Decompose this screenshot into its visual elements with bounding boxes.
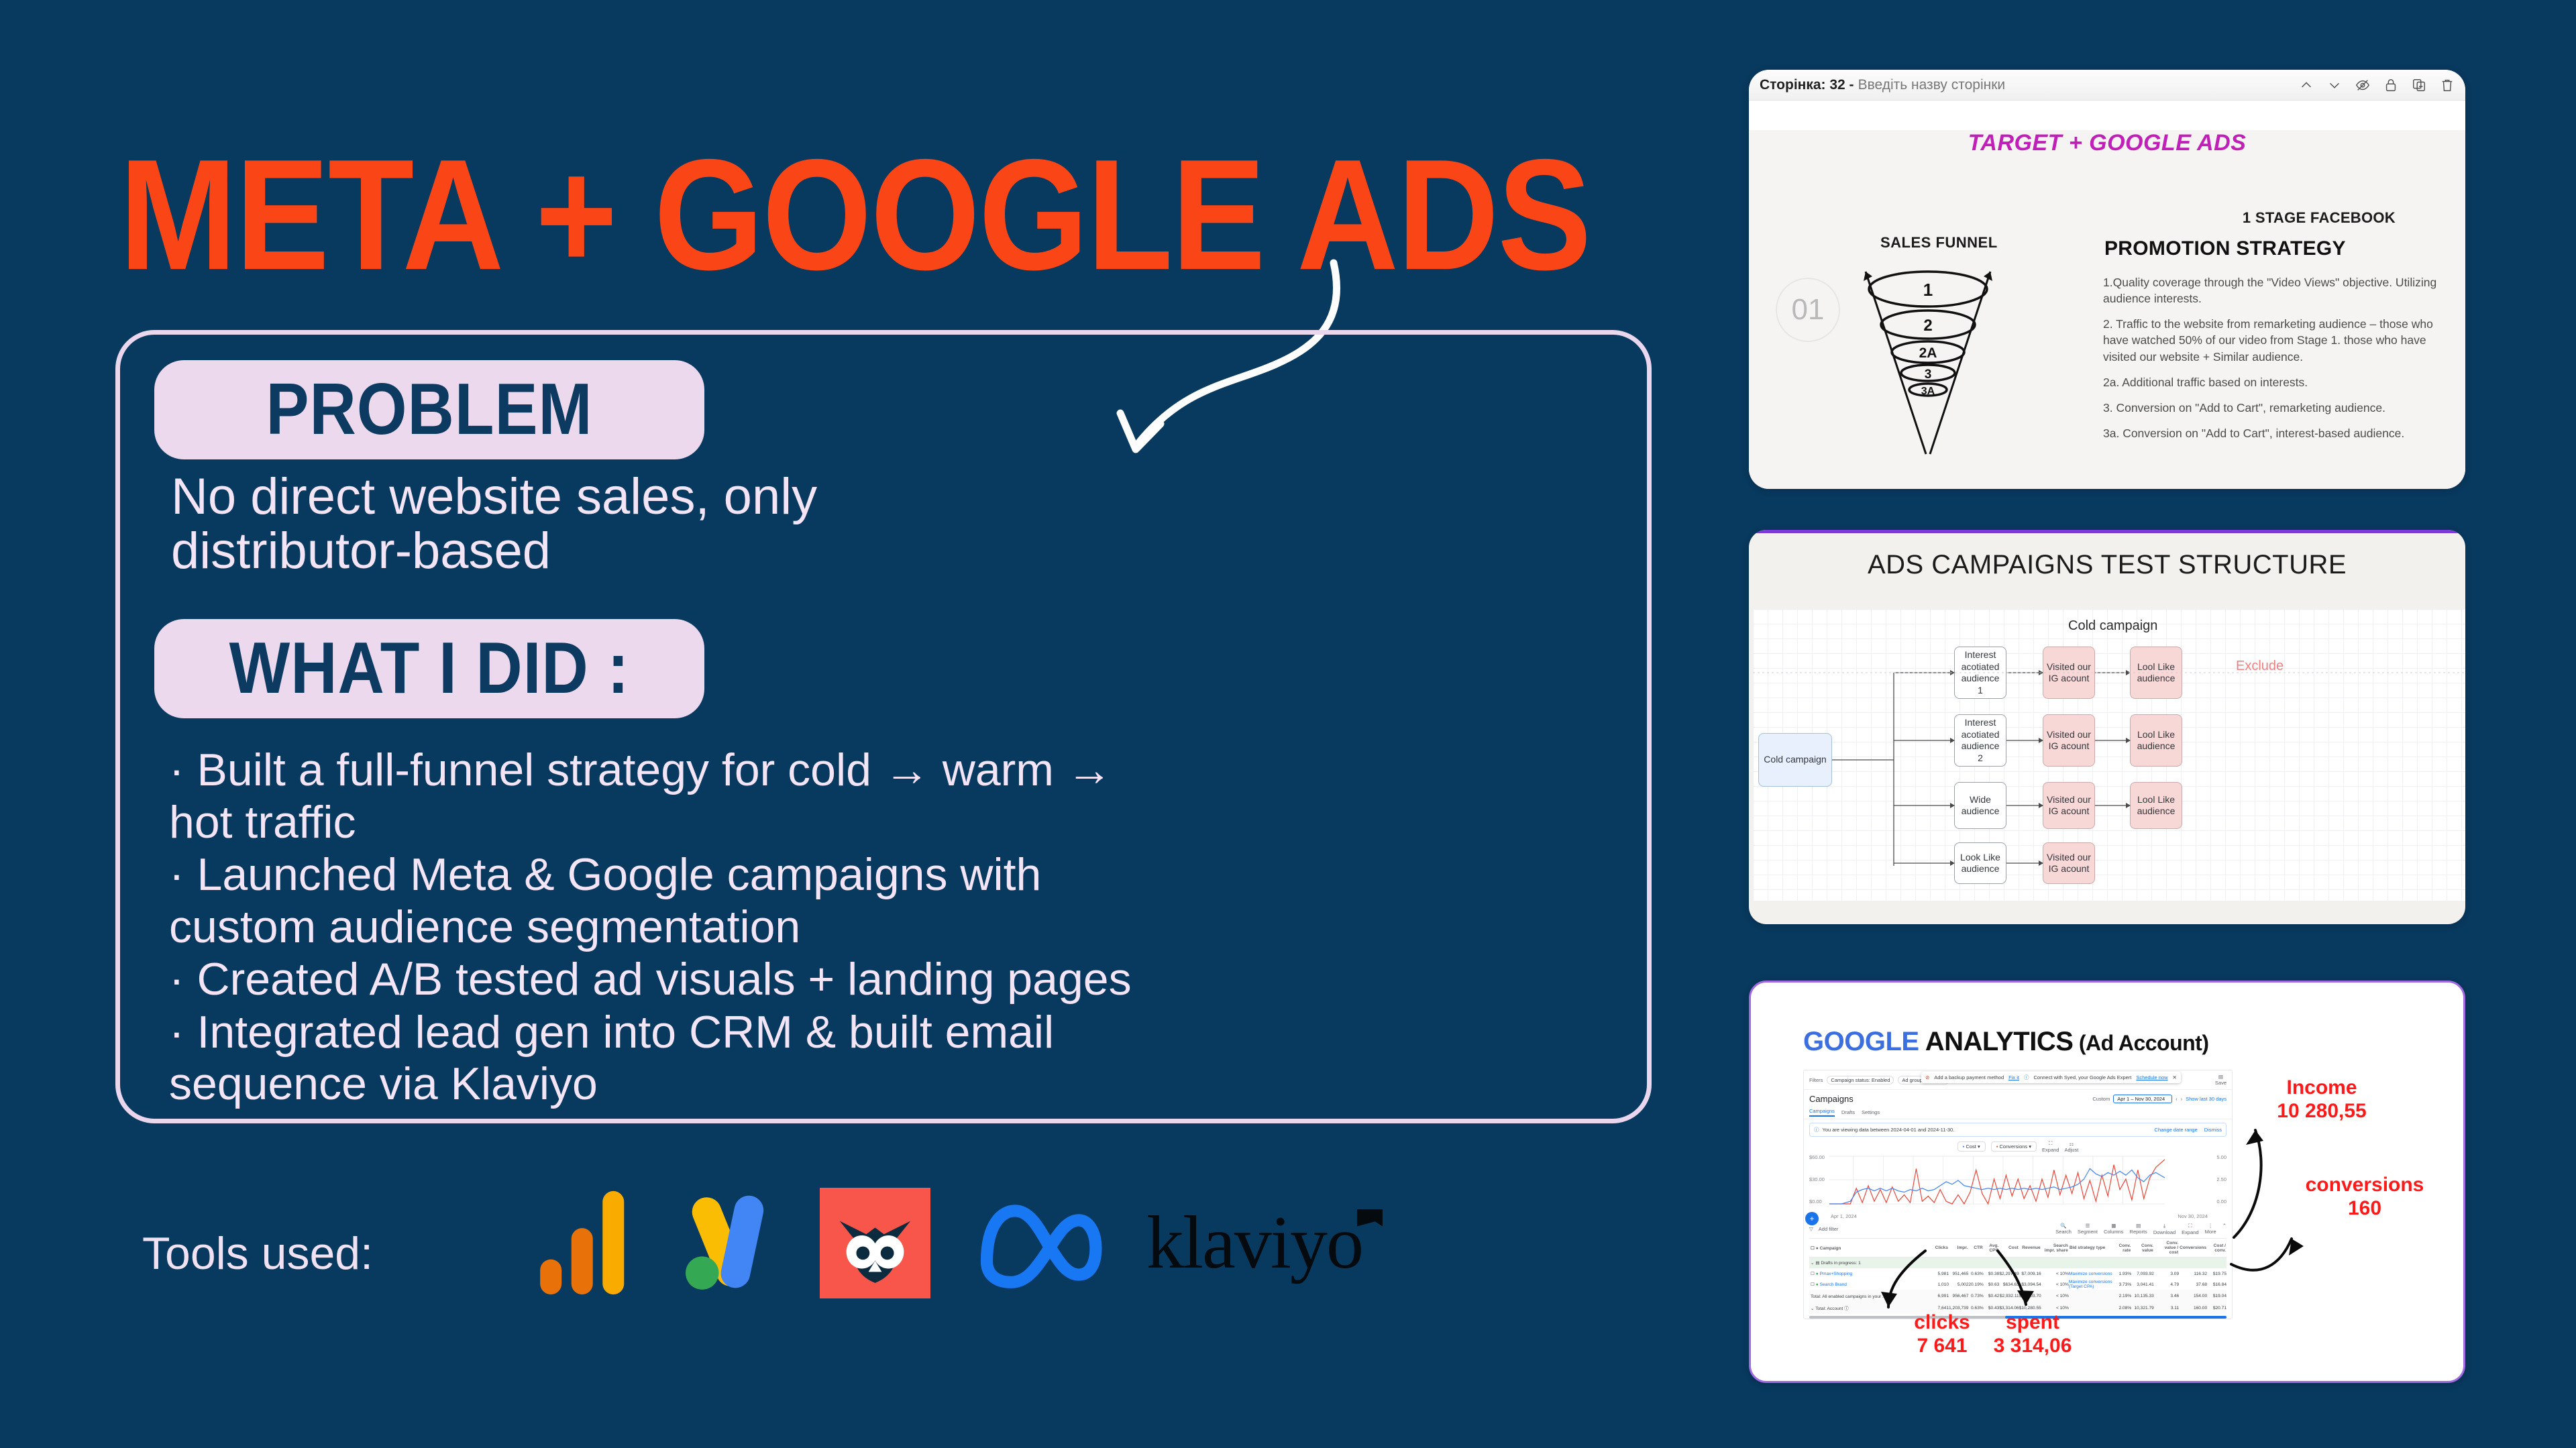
- strategy-item: 2a. Additional traffic based on interest…: [2103, 374, 2438, 390]
- card2-title: ADS CAMPAIGNS TEST STRUCTURE: [1749, 550, 2465, 580]
- info-icon: ⓘ: [1814, 1126, 1819, 1133]
- add-fab-button[interactable]: +: [1805, 1212, 1819, 1225]
- card3-title: GOOGLE ANALYTICS (Ad Account): [1803, 1027, 2208, 1057]
- filters-label: Filters: [1809, 1077, 1823, 1083]
- eye-off-icon[interactable]: [2355, 78, 2370, 93]
- close-icon[interactable]: ✕: [2173, 1074, 2177, 1080]
- svg-text:3A: 3A: [1921, 386, 1935, 397]
- reports-icon[interactable]: ▤Reports: [2130, 1223, 2147, 1235]
- promotion-strategy-title: PROMOTION STRATEGY: [2104, 237, 2346, 260]
- y-axis-label-right: 2.50: [2216, 1176, 2226, 1182]
- google-analytics-logo: [537, 1189, 637, 1296]
- y-axis-label: $30.00: [1809, 1176, 1825, 1182]
- slide-card-ads-test-structure[interactable]: ADS CAMPAIGNS TEST STRUCTURE Cold campai…: [1749, 530, 2465, 924]
- card1-page-number: Сторінка: 32 -: [1760, 77, 1854, 93]
- svg-text:1: 1: [1923, 280, 1933, 300]
- tools-used-label: Tools used:: [142, 1227, 373, 1280]
- search-icon[interactable]: 🔍Search: [2055, 1223, 2072, 1235]
- table-row[interactable]: ☐ ● Search Brand 1,010 5,002 20.19% $0.6…: [1809, 1279, 2226, 1290]
- flowchart-canvas: Cold campaign Exclude Cold campaign Inte…: [1753, 609, 2465, 901]
- problem-chip-label: PROBLEM: [266, 368, 593, 451]
- card3-title-google: GOOGLE: [1803, 1027, 1919, 1056]
- table-header-row: ☐ ● Campaign Clicks Impr. CTR Avg. CPC C…: [1809, 1239, 2226, 1258]
- problem-chip: PROBLEM: [154, 360, 704, 459]
- campaigns-table: ☐ ● Campaign Clicks Impr. CTR Avg. CPC C…: [1809, 1238, 2226, 1314]
- show-last-30-days-link[interactable]: Show last 30 days: [2186, 1096, 2226, 1102]
- x-axis-start-label: Apr 1, 2024: [1831, 1213, 1857, 1219]
- table-row[interactable]: ☐ ● Pmax+Shopping 5,981 951,465 0.63% $0…: [1809, 1268, 2226, 1279]
- info-icon: ⓘ: [2024, 1074, 2029, 1081]
- notice-expert: Connect with Syed, your Google Ads Exper…: [2033, 1074, 2131, 1080]
- svg-text:3: 3: [1925, 368, 1932, 382]
- left-column: META + GOOGLE ADS PROBLEM No direct webs…: [0, 0, 1717, 1448]
- bullet-list: · Built a full-funnel strategy for cold …: [169, 744, 1169, 1111]
- filter-chip[interactable]: Campaign status: Enabled: [1827, 1076, 1894, 1084]
- expand-chart-button[interactable]: ⛶Expand: [2042, 1140, 2059, 1153]
- tools-logo-row: klaviyo: [537, 1186, 1362, 1300]
- list-item: · Built a full-funnel strategy for cold …: [169, 744, 1169, 848]
- whatidid-chip: WHAT I DID :: [154, 619, 704, 718]
- date-range-select[interactable]: Apr 1 – Nov 30, 2024: [2113, 1095, 2172, 1103]
- tab-drafts[interactable]: Drafts: [1841, 1109, 1855, 1115]
- google-ads-logo: [675, 1189, 782, 1296]
- dismiss-link[interactable]: Dismiss: [2204, 1127, 2222, 1133]
- y-axis-label: $60.00: [1809, 1154, 1825, 1160]
- lock-icon[interactable]: [2383, 78, 2398, 93]
- card3-title-suffix: (Ad Account): [2073, 1031, 2208, 1055]
- hootsuite-logo: [820, 1188, 930, 1298]
- ga-page-title: Campaigns: [1809, 1094, 1854, 1104]
- expand-row-icon[interactable]: ⌄: [1811, 1306, 1815, 1311]
- duplicate-icon[interactable]: [2412, 78, 2426, 93]
- x-axis-end-label: Nov 30, 2024: [2178, 1213, 2208, 1219]
- annotation-conversions: conversions 160: [2288, 1174, 2442, 1220]
- page-title: META + GOOGLE ADS: [119, 124, 1591, 306]
- meta-logo: [968, 1196, 1109, 1290]
- help-icon[interactable]: ⓘ: [1844, 1306, 1849, 1311]
- performance-chart: [1829, 1156, 2165, 1205]
- next-period-icon[interactable]: ›: [2181, 1096, 2183, 1102]
- help-icon[interactable]: ⓘ: [1887, 1294, 1892, 1299]
- google-ads-screenshot[interactable]: Filters Campaign status: Enabled Ad grou…: [1803, 1070, 2233, 1319]
- date-custom-label: Custom: [2092, 1096, 2110, 1102]
- tab-settings[interactable]: Settings: [1862, 1109, 1880, 1115]
- notice-payment: Add a backup payment method: [1934, 1074, 2004, 1080]
- filter-icon[interactable]: ▽: [1809, 1226, 1813, 1232]
- stage-label: 1 STAGE FACEBOOK: [2243, 209, 2396, 227]
- ga-info-banner: You are viewing data between 2024-04-01 …: [1823, 1127, 1955, 1133]
- strategy-item: 3. Conversion on "Add to Cart", remarket…: [2103, 400, 2438, 416]
- y-axis-label: $0.00: [1809, 1199, 1822, 1205]
- svg-text:2: 2: [1923, 317, 1932, 335]
- legend-cost[interactable]: ▪ Cost ▾: [1957, 1141, 1986, 1152]
- klaviyo-flag-icon: [1357, 1209, 1383, 1227]
- tab-campaigns[interactable]: Campaigns: [1809, 1108, 1835, 1117]
- legend-conversions[interactable]: ▪ Conversions ▾: [1991, 1141, 2037, 1152]
- step-badge: 01: [1776, 278, 1840, 342]
- table-row[interactable]: Total: All enabled campaigns in your ...…: [1809, 1290, 2226, 1302]
- chevron-down-icon[interactable]: [2327, 78, 2342, 93]
- problem-text: No direct website sales, only distributo…: [171, 469, 1010, 579]
- select-all-checkbox[interactable]: ☐: [1811, 1246, 1815, 1251]
- segment-icon[interactable]: ☰Segment: [2078, 1223, 2098, 1235]
- expand-icon[interactable]: ⛶Expand: [2182, 1223, 2198, 1235]
- change-date-range-link[interactable]: Change date range: [2155, 1127, 2198, 1133]
- flowchart-connectors: [1753, 609, 2465, 901]
- klaviyo-logo: klaviyo: [1146, 1200, 1362, 1286]
- fix-it-link[interactable]: Fix it: [2008, 1074, 2019, 1080]
- svg-text:2A: 2A: [1919, 345, 1937, 361]
- whatidid-chip-label: WHAT I DID :: [229, 627, 630, 710]
- table-row[interactable]: ⌄ ▤ Drafts in progress: 1: [1809, 1258, 2226, 1269]
- card3-title-analytics: ANALYTICS: [1919, 1027, 2074, 1056]
- list-item: · Integrated lead gen into CRM & built e…: [169, 1007, 1169, 1111]
- strategy-item: 1.Quality coverage through the "Video Vi…: [2103, 274, 2438, 307]
- annotation-income: Income 10 280,55: [2251, 1076, 2392, 1123]
- strategy-item: 2. Traffic to the website from remarketi…: [2103, 316, 2438, 364]
- prev-period-icon[interactable]: ‹: [2176, 1096, 2178, 1102]
- sales-funnel-label: SALES FUNNEL: [1880, 234, 1998, 252]
- card1-body: TARGET + GOOGLE ADS SALES FUNNEL 1 STAGE…: [1749, 130, 2465, 489]
- add-filter-button[interactable]: Add filter: [1819, 1226, 1839, 1232]
- schedule-now-link[interactable]: Schedule now: [2136, 1074, 2167, 1080]
- sales-funnel-diagram: 1 2 2A 3 3A: [1851, 261, 2005, 462]
- card1-titlebar: Сторінка: 32 - Введіть назву сторінки: [1749, 70, 2465, 101]
- columns-icon[interactable]: ▦Columns: [2104, 1223, 2124, 1235]
- list-item: · Launched Meta & Google campaigns with …: [169, 849, 1169, 953]
- save-label: Save: [2215, 1080, 2226, 1086]
- download-icon[interactable]: ⤓Download: [2153, 1223, 2176, 1235]
- list-item: · Created A/B tested ad visuals + landin…: [169, 954, 1169, 1006]
- slide-card-google-analytics[interactable]: GOOGLE ANALYTICS (Ad Account) Filters Ca…: [1749, 981, 2465, 1383]
- card1-page-name-placeholder: Введіть назву сторінки: [1858, 77, 2006, 93]
- chevron-up-icon[interactable]: [2299, 78, 2314, 93]
- y-axis-label-right: 0.00: [2216, 1199, 2226, 1205]
- adjust-chart-button[interactable]: ⚏Adjust: [2064, 1141, 2078, 1153]
- collapse-icon[interactable]: ⌃: [2222, 1223, 2226, 1235]
- card1-heading: TARGET + GOOGLE ADS: [1749, 130, 2465, 156]
- row-checkbox[interactable]: ☐: [1811, 1272, 1815, 1276]
- strategy-item: 3a. Conversion on "Add to Cart", interes…: [2103, 425, 2438, 441]
- annotation-spent: spent 3 314,06: [1972, 1311, 2093, 1357]
- promotion-strategy-text: 1.Quality coverage through the "Video Vi…: [2103, 274, 2438, 451]
- save-icon[interactable]: ▤: [2215, 1074, 2226, 1080]
- trash-icon[interactable]: [2440, 78, 2455, 93]
- warning-icon: ⊘: [1925, 1074, 1929, 1080]
- expand-row-icon[interactable]: ⌄: [1811, 1261, 1815, 1266]
- row-checkbox[interactable]: ☐: [1811, 1282, 1815, 1287]
- more-options-icon[interactable]: ⋮More: [2205, 1223, 2216, 1235]
- slide-card-target-google-ads[interactable]: Сторінка: 32 - Введіть назву сторінки TA…: [1749, 70, 2465, 489]
- y-axis-label-right: 5.00: [2216, 1154, 2226, 1160]
